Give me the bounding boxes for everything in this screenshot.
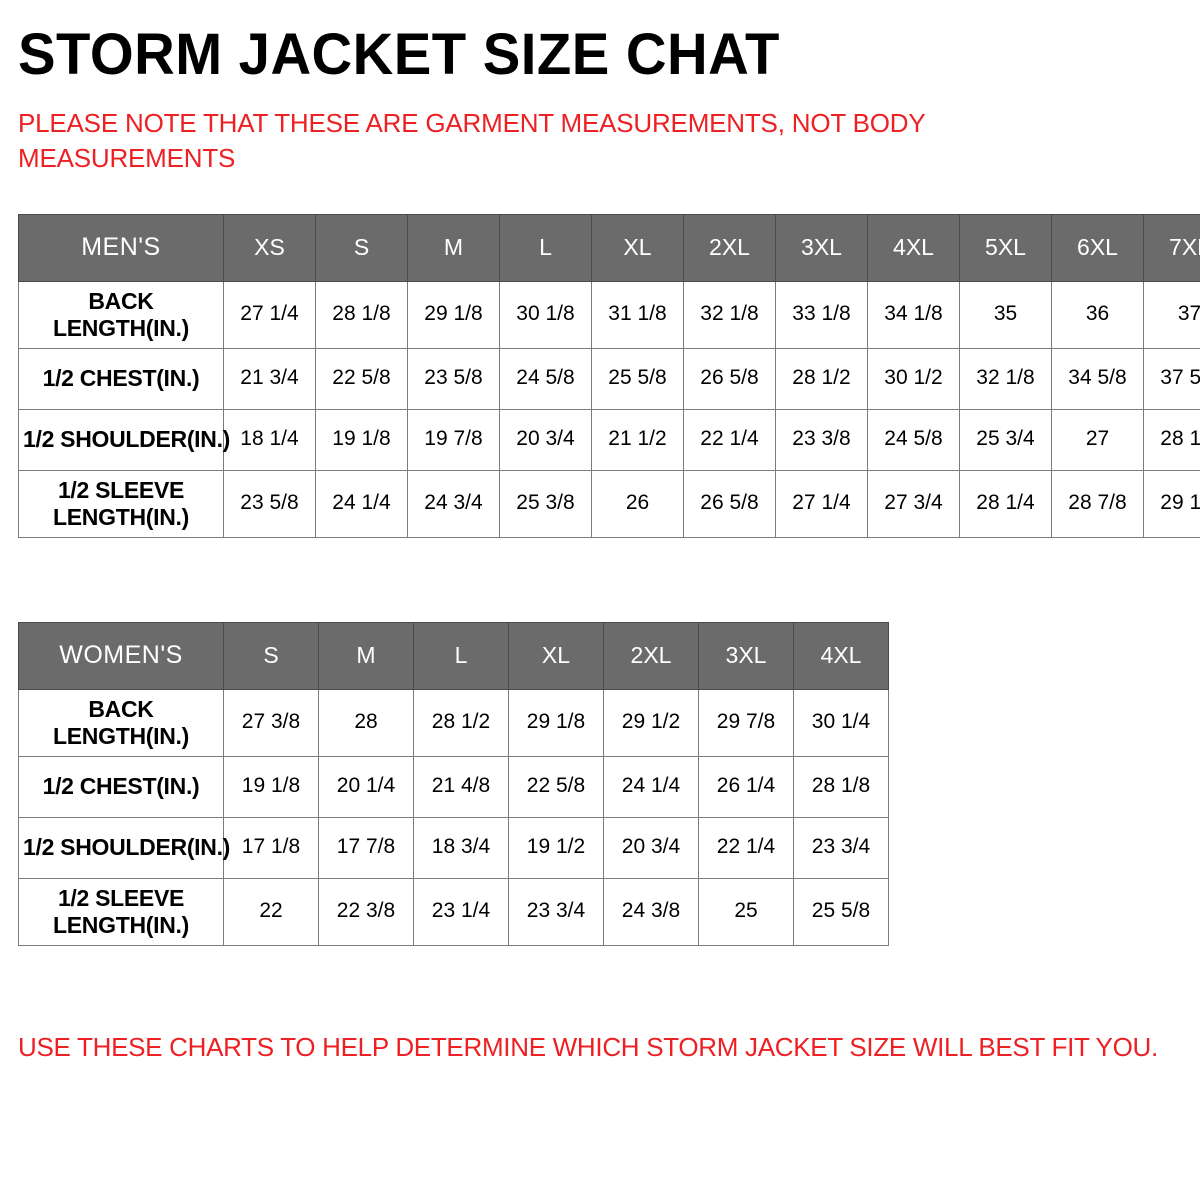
mens-header-label: MEN'S <box>19 214 224 281</box>
table-cell: 19 1/8 <box>316 409 408 470</box>
table-cell: 25 <box>699 878 794 945</box>
table-cell: 22 <box>224 878 319 945</box>
table-cell: 28 1/4 <box>1144 409 1200 470</box>
table-cell: 23 3/8 <box>776 409 868 470</box>
table-cell: 24 3/4 <box>408 470 500 537</box>
table-cell: 24 5/8 <box>500 348 592 409</box>
table-cell: 20 1/4 <box>319 756 414 817</box>
table-cell: 27 1/4 <box>776 470 868 537</box>
table-cell: 28 1/8 <box>316 281 408 348</box>
table-cell: 26 1/4 <box>699 756 794 817</box>
table-cell: 23 3/4 <box>509 878 604 945</box>
table-cell: 28 <box>319 689 414 756</box>
womens-size-header-s: S <box>224 622 319 689</box>
table-cell: 21 3/4 <box>224 348 316 409</box>
table-cell: 22 5/8 <box>509 756 604 817</box>
table-cell: 26 <box>592 470 684 537</box>
table-row: 1/2 SLEEVELENGTH(IN.)2222 3/823 1/423 3/… <box>19 878 889 945</box>
womens-size-header-xl: XL <box>509 622 604 689</box>
mens-size-header-3xl: 3XL <box>776 214 868 281</box>
mens-row-label: 1/2 SHOULDER(IN.) <box>19 409 224 470</box>
table-cell: 20 3/4 <box>604 817 699 878</box>
table-row: 1/2 CHEST(IN.)19 1/820 1/421 4/822 5/824… <box>19 756 889 817</box>
table-cell: 30 1/2 <box>868 348 960 409</box>
table-cell: 28 1/2 <box>414 689 509 756</box>
table-cell: 31 1/8 <box>592 281 684 348</box>
table-cell: 24 1/4 <box>604 756 699 817</box>
table-cell: 27 3/4 <box>868 470 960 537</box>
mens-size-table: MEN'S XSSMLXL2XL3XL4XL5XL6XL7XL BACKLENG… <box>18 214 1200 538</box>
table-row: 1/2 SHOULDER(IN.)17 1/817 7/818 3/419 1/… <box>19 817 889 878</box>
womens-table-header: WOMEN'S SMLXL2XL3XL4XL <box>19 622 889 689</box>
table-cell: 35 <box>960 281 1052 348</box>
table-cell: 17 1/8 <box>224 817 319 878</box>
size-chart-page: STORM JACKET SIZE CHAT PLEASE NOTE THAT … <box>0 0 1200 1200</box>
womens-size-header-l: L <box>414 622 509 689</box>
table-row: 1/2 CHEST(IN.)21 3/422 5/823 5/824 5/825… <box>19 348 1200 409</box>
womens-table-body: BACKLENGTH(IN.)27 3/82828 1/229 1/829 1/… <box>19 689 889 945</box>
table-cell: 30 1/8 <box>500 281 592 348</box>
table-cell: 21 1/2 <box>592 409 684 470</box>
womens-row-label: BACKLENGTH(IN.) <box>19 689 224 756</box>
table-cell: 24 3/8 <box>604 878 699 945</box>
table-cell: 36 <box>1052 281 1144 348</box>
table-cell: 26 5/8 <box>684 348 776 409</box>
table-cell: 27 <box>1052 409 1144 470</box>
womens-size-header-4xl: 4XL <box>794 622 889 689</box>
table-cell: 24 1/4 <box>316 470 408 537</box>
mens-row-label: 1/2 CHEST(IN.) <box>19 348 224 409</box>
table-cell: 19 1/8 <box>224 756 319 817</box>
mens-size-header-2xl: 2XL <box>684 214 776 281</box>
table-header-row: MEN'S XSSMLXL2XL3XL4XL5XL6XL7XL <box>19 214 1200 281</box>
mens-size-header-7xl: 7XL <box>1144 214 1200 281</box>
table-cell: 29 1/8 <box>408 281 500 348</box>
womens-size-table: WOMEN'S SMLXL2XL3XL4XL BACKLENGTH(IN.)27… <box>18 622 889 946</box>
table-cell: 25 5/8 <box>794 878 889 945</box>
table-cell: 28 1/4 <box>960 470 1052 537</box>
chart-usage-note: USE THESE CHARTS TO HELP DETERMINE WHICH… <box>18 946 1182 1063</box>
table-cell: 17 7/8 <box>319 817 414 878</box>
table-cell: 19 7/8 <box>408 409 500 470</box>
table-cell: 18 1/4 <box>224 409 316 470</box>
table-cell: 28 1/2 <box>776 348 868 409</box>
table-cell: 32 1/8 <box>684 281 776 348</box>
table-cell: 34 5/8 <box>1052 348 1144 409</box>
page-title: STORM JACKET SIZE CHAT <box>18 0 1147 84</box>
table-cell: 27 1/4 <box>224 281 316 348</box>
mens-row-label: 1/2 SLEEVELENGTH(IN.) <box>19 470 224 537</box>
table-cell: 28 1/8 <box>794 756 889 817</box>
womens-size-header-m: M <box>319 622 414 689</box>
table-cell: 30 1/4 <box>794 689 889 756</box>
table-cell: 25 5/8 <box>592 348 684 409</box>
table-cell: 32 1/8 <box>960 348 1052 409</box>
womens-row-label: 1/2 SLEEVELENGTH(IN.) <box>19 878 224 945</box>
womens-row-label: 1/2 CHEST(IN.) <box>19 756 224 817</box>
table-cell: 29 7/8 <box>699 689 794 756</box>
table-cell: 27 3/8 <box>224 689 319 756</box>
table-cell: 28 7/8 <box>1052 470 1144 537</box>
table-cell: 26 5/8 <box>684 470 776 537</box>
table-cell: 23 3/4 <box>794 817 889 878</box>
womens-row-label: 1/2 SHOULDER(IN.) <box>19 817 224 878</box>
table-cell: 29 1/2 <box>1144 470 1200 537</box>
table-row: 1/2 SHOULDER(IN.)18 1/419 1/819 7/820 3/… <box>19 409 1200 470</box>
table-cell: 23 5/8 <box>224 470 316 537</box>
table-cell: 23 1/4 <box>414 878 509 945</box>
womens-size-header-3xl: 3XL <box>699 622 794 689</box>
table-cell: 29 1/2 <box>604 689 699 756</box>
table-cell: 19 1/2 <box>509 817 604 878</box>
table-cell: 21 4/8 <box>414 756 509 817</box>
mens-size-header-4xl: 4XL <box>868 214 960 281</box>
table-cell: 25 3/8 <box>500 470 592 537</box>
mens-table-header: MEN'S XSSMLXL2XL3XL4XL5XL6XL7XL <box>19 214 1200 281</box>
table-cell: 33 1/8 <box>776 281 868 348</box>
table-cell: 23 5/8 <box>408 348 500 409</box>
table-row: BACKLENGTH(IN.)27 3/82828 1/229 1/829 1/… <box>19 689 889 756</box>
mens-size-header-xl: XL <box>592 214 684 281</box>
table-cell: 18 3/4 <box>414 817 509 878</box>
table-cell: 22 1/4 <box>699 817 794 878</box>
mens-size-header-l: L <box>500 214 592 281</box>
table-cell: 25 3/4 <box>960 409 1052 470</box>
table-cell: 24 5/8 <box>868 409 960 470</box>
mens-table-body: BACKLENGTH(IN.)27 1/428 1/829 1/830 1/83… <box>19 281 1200 537</box>
table-header-row: WOMEN'S SMLXL2XL3XL4XL <box>19 622 889 689</box>
womens-size-header-2xl: 2XL <box>604 622 699 689</box>
table-cell: 22 5/8 <box>316 348 408 409</box>
table-cell: 34 1/8 <box>868 281 960 348</box>
table-row: BACKLENGTH(IN.)27 1/428 1/829 1/830 1/83… <box>19 281 1200 348</box>
mens-size-header-5xl: 5XL <box>960 214 1052 281</box>
table-cell: 29 1/8 <box>509 689 604 756</box>
table-row: 1/2 SLEEVELENGTH(IN.)23 5/824 1/424 3/42… <box>19 470 1200 537</box>
garment-measurement-note: PLEASE NOTE THAT THESE ARE GARMENT MEASU… <box>18 84 983 176</box>
mens-size-header-6xl: 6XL <box>1052 214 1144 281</box>
mens-size-header-m: M <box>408 214 500 281</box>
mens-size-header-s: S <box>316 214 408 281</box>
womens-header-label: WOMEN'S <box>19 622 224 689</box>
mens-row-label: BACKLENGTH(IN.) <box>19 281 224 348</box>
table-cell: 37 5/8 <box>1144 348 1200 409</box>
table-cell: 22 1/4 <box>684 409 776 470</box>
mens-size-header-xs: XS <box>224 214 316 281</box>
table-cell: 22 3/8 <box>319 878 414 945</box>
table-cell: 20 3/4 <box>500 409 592 470</box>
table-cell: 37 <box>1144 281 1200 348</box>
